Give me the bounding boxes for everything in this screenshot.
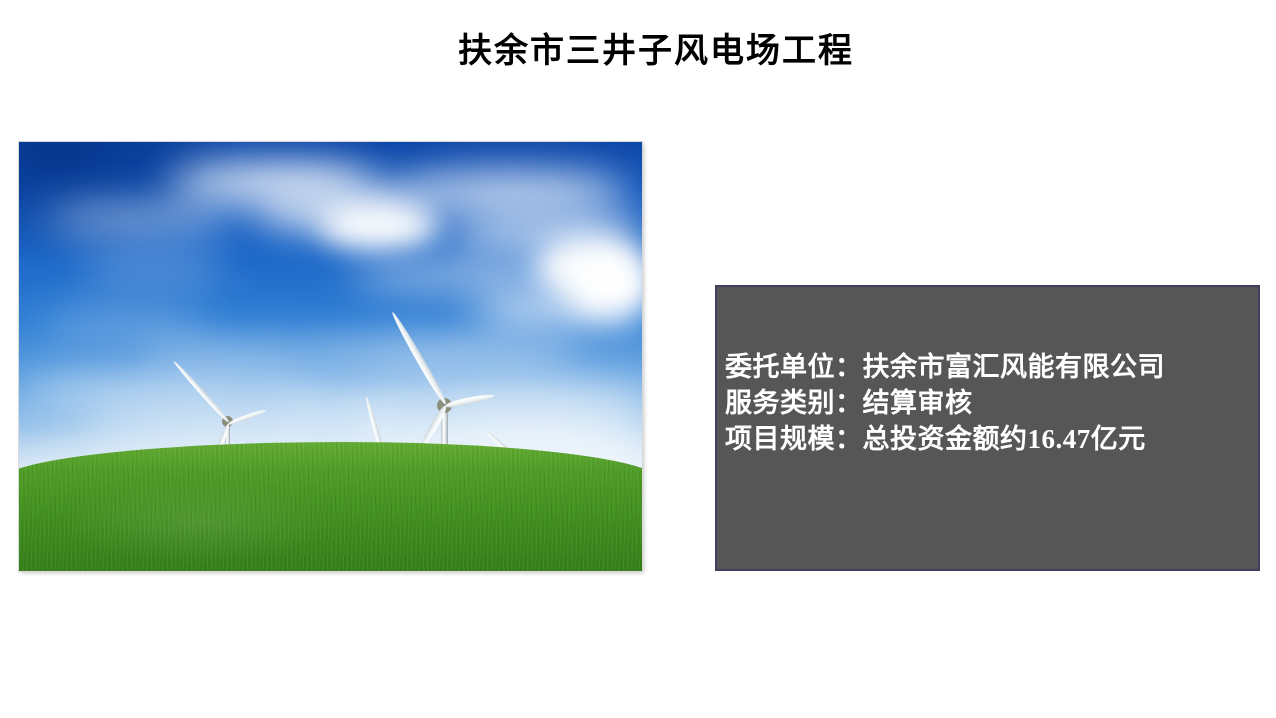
project-info-list: 委托单位：扶余市富汇风能有限公司 服务类别：结算审核 项目规模：总投资金额约16… bbox=[725, 349, 1254, 457]
cloud-icon bbox=[389, 172, 629, 212]
project-info-panel: 委托单位：扶余市富汇风能有限公司 服务类别：结算审核 项目规模：总投资金额约16… bbox=[715, 285, 1260, 571]
cloud-icon bbox=[471, 292, 642, 326]
wind-farm-photo-canvas bbox=[19, 142, 642, 571]
list-item: 项目规模：总投资金额约16.47亿元 bbox=[725, 421, 1254, 457]
cloud-icon bbox=[44, 206, 234, 232]
slide-canvas: 扶余市三井子风电场工程 bbox=[0, 0, 1276, 718]
list-item: 服务类别：结算审核 bbox=[725, 385, 1254, 421]
grass-texture bbox=[19, 442, 642, 571]
page-title: 扶余市三井子风电场工程 bbox=[0, 30, 1276, 74]
cloud-icon bbox=[139, 342, 349, 366]
cloud-icon bbox=[79, 260, 229, 280]
list-item: 委托单位：扶余市富汇风能有限公司 bbox=[725, 349, 1254, 385]
page-title-text: 扶余市三井子风电场工程 bbox=[458, 33, 854, 70]
cloud-icon bbox=[39, 314, 209, 334]
cloud-icon bbox=[319, 338, 579, 368]
wind-farm-photo bbox=[19, 142, 642, 571]
cloud-icon bbox=[319, 204, 439, 248]
